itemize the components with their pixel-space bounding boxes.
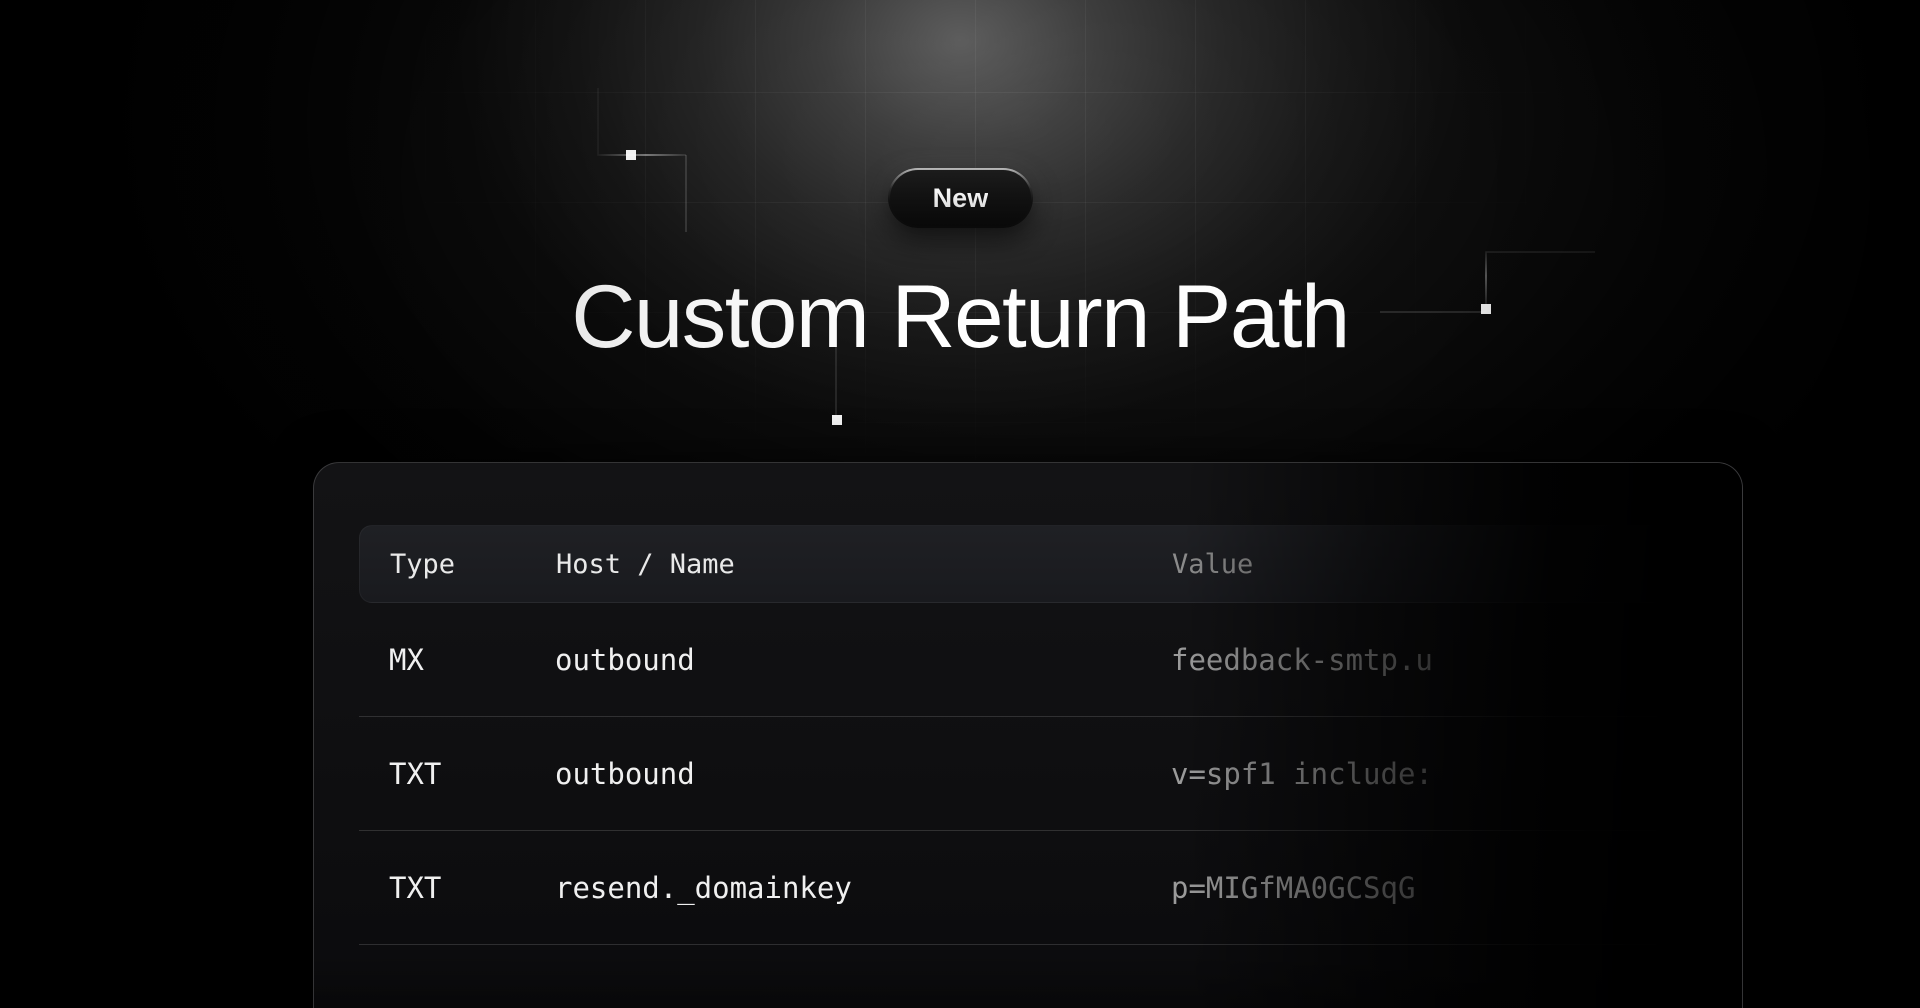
column-header-host: Host / Name — [556, 549, 1172, 580]
table-row: TXT resend._domainkey p=MIGfMA0GCSqG — [359, 831, 1743, 945]
new-badge-label: New — [933, 183, 989, 214]
cell-value: p=MIGfMA0GCSqG — [1171, 871, 1743, 905]
new-badge: New — [888, 168, 1033, 228]
cell-value-text: v=spf1 include: — [1171, 757, 1433, 791]
cell-type-text: TXT — [389, 871, 441, 905]
promo-banner: New Custom Return Path Type Host / Name … — [0, 0, 1920, 1008]
cell-type-text: MX — [389, 643, 424, 677]
cell-type-text: TXT — [389, 757, 441, 791]
new-badge-pill: New — [888, 168, 1033, 228]
dns-records-table: Type Host / Name Value MX outbound — [359, 525, 1743, 945]
cell-type: TXT — [359, 871, 555, 905]
device-frame: Type Host / Name Value MX outbound — [313, 462, 1743, 1008]
cell-value: v=spf1 include: — [1171, 757, 1743, 791]
cell-type: TXT — [359, 757, 555, 791]
bottom-edge-fade — [314, 952, 1742, 1008]
cell-value-text: feedback-smtp.u — [1171, 643, 1433, 677]
new-badge-inner: New — [890, 170, 1031, 226]
table-row: TXT outbound v=spf1 include: — [359, 717, 1743, 831]
cell-host-text: outbound — [555, 757, 695, 791]
table-header-row: Type Host / Name Value — [359, 525, 1743, 603]
column-header-host-label: Host / Name — [556, 549, 735, 580]
cell-value: feedback-smtp.u — [1171, 643, 1743, 677]
device-content: Type Host / Name Value MX outbound — [314, 463, 1742, 945]
cell-host: outbound — [555, 643, 1171, 677]
cell-host: resend._domainkey — [555, 871, 1171, 905]
cell-type: MX — [359, 643, 555, 677]
cell-host: outbound — [555, 757, 1171, 791]
cell-host-text: resend._domainkey — [555, 871, 852, 905]
column-header-type: Type — [360, 549, 556, 580]
table-row: MX outbound feedback-smtp.u — [359, 603, 1743, 717]
cell-value-text: p=MIGfMA0GCSqG — [1171, 871, 1415, 905]
page-title: Custom Return Path — [0, 272, 1920, 361]
cell-host-text: outbound — [555, 643, 695, 677]
column-header-type-label: Type — [390, 549, 455, 580]
column-header-value-label: Value — [1172, 549, 1253, 580]
column-header-value: Value — [1172, 549, 1743, 580]
